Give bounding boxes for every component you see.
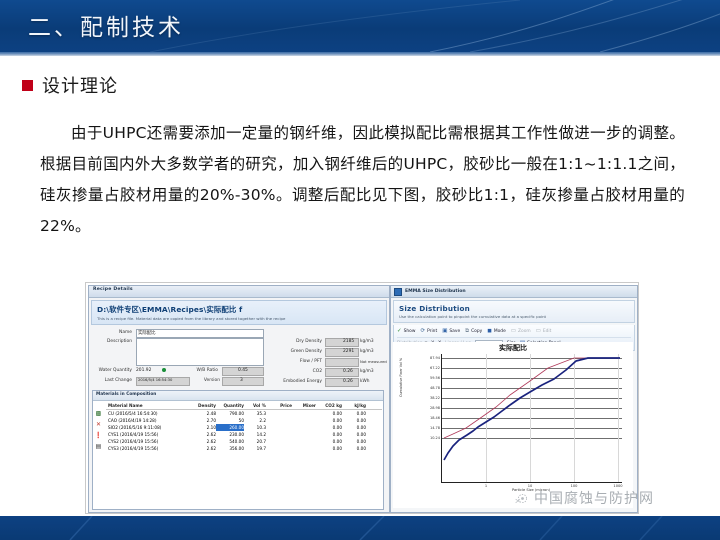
y-tick-label: 10.24 bbox=[430, 436, 440, 440]
wb-ratio-value: 0.45 bbox=[238, 368, 248, 373]
target-curve-line bbox=[444, 358, 620, 438]
cell-density: 2.62 bbox=[194, 438, 216, 445]
version-field bbox=[222, 377, 264, 386]
edit-button[interactable]: ▭Edit bbox=[536, 329, 552, 335]
cell-material-name: CU (2016/5/4 16:54:30) bbox=[106, 410, 194, 417]
dry-density-label: Dry Density bbox=[268, 339, 322, 344]
table-row[interactable]: CAO (2016/4/19 14:28) 2.70 50 2.2 0.00 0… bbox=[106, 417, 382, 424]
col-quantity[interactable]: Quantity bbox=[216, 402, 244, 409]
body-paragraph: 由于UHPC还需要添加一定量的钢纤维，因此模拟配比需根据其工作性做进一步的调整。… bbox=[40, 118, 685, 242]
cell-mixer bbox=[292, 438, 316, 445]
size-distribution-title: Size Distribution bbox=[399, 304, 629, 313]
dry-density-unit: kg/m3 bbox=[360, 339, 374, 344]
embodied-energy-unit: kWh bbox=[360, 379, 369, 384]
recipe-details-window: Recipe Details D:\软件专区\EMMA\Recipes\实际配比… bbox=[88, 285, 390, 513]
materials-panel-title: Materials in Composition bbox=[93, 391, 383, 401]
flow-pft-field bbox=[325, 358, 359, 367]
col-mixer[interactable]: Mixer bbox=[292, 402, 316, 409]
show-button[interactable]: ✓Show bbox=[397, 329, 415, 335]
recipe-form-area: Name 实际配比 Description Water Quantity 201… bbox=[92, 328, 386, 388]
green-density-unit: kg/m3 bbox=[360, 349, 374, 354]
edit-label: Edit bbox=[543, 329, 552, 334]
cell-co2: 0.00 bbox=[316, 431, 342, 438]
cell-quantity: 50 bbox=[216, 417, 244, 424]
cell-vol: 19.7 bbox=[244, 445, 266, 452]
mode-label: Mode bbox=[494, 329, 506, 334]
y-tick-label: 87.94 bbox=[430, 356, 440, 360]
chart-curves bbox=[442, 354, 622, 482]
measured-curve-line bbox=[444, 358, 620, 460]
cell-density: 2.70 bbox=[194, 417, 216, 424]
last-change-label: Last Change bbox=[90, 378, 132, 383]
cell-kjkg: 0.00 bbox=[342, 417, 366, 424]
table-header-row: Material Name Density Quantity Vol % Pri… bbox=[106, 402, 382, 410]
cell-material-name: CYS3 (2016/4/19 15:56) bbox=[106, 445, 194, 452]
save-label: Save bbox=[449, 329, 460, 334]
y-tick-label: 59.56 bbox=[430, 376, 440, 380]
show-label: Show bbox=[404, 329, 416, 334]
cell-kjkg: 0.00 bbox=[342, 424, 366, 431]
cell-co2: 0.00 bbox=[316, 438, 342, 445]
y-tick-label: 38.22 bbox=[430, 396, 440, 400]
table-row[interactable]: CYS2 (2016/4/19 15:56) 2.62 540.00 20.7 … bbox=[106, 438, 382, 445]
section-heading-label: 设计理论 bbox=[42, 72, 118, 98]
cell-price bbox=[266, 424, 292, 431]
save-button[interactable]: ▣Save bbox=[442, 329, 460, 335]
print-button[interactable]: ⟳Print bbox=[420, 329, 437, 335]
recipe-path-banner: D:\软件专区\EMMA\Recipes\实际配比 f This is a re… bbox=[91, 300, 387, 325]
cell-mixer bbox=[292, 417, 316, 424]
table-row[interactable]: SIO2 (2016/5/16 9:11:08) 2.10 260.00 10.… bbox=[106, 424, 382, 431]
green-density-label: Green Density bbox=[268, 349, 322, 354]
water-status-dot-icon bbox=[162, 368, 166, 372]
cell-co2: 0.00 bbox=[316, 445, 342, 452]
wb-ratio-label: W/B Ratio bbox=[174, 368, 218, 373]
cell-density: 2.10 bbox=[194, 424, 216, 431]
last-change-value: 2016/5/4 16:54:30 bbox=[138, 378, 172, 382]
cell-mixer bbox=[292, 410, 316, 417]
cell-price bbox=[266, 431, 292, 438]
print-icon: ⟳ bbox=[420, 329, 425, 335]
cell-co2: 0.00 bbox=[316, 410, 342, 417]
cell-vol: 10.3 bbox=[244, 424, 266, 431]
y-tick-label: 18.46 bbox=[430, 416, 440, 420]
cell-material-name: SIO2 (2016/5/16 9:11:08) bbox=[106, 424, 194, 431]
materials-side-toolbar: ▩ ✕ ❗ ▤ bbox=[94, 409, 105, 453]
cell-material-name: CAO (2016/4/19 14:28) bbox=[106, 417, 194, 424]
print-label: Print bbox=[427, 329, 437, 334]
cell-kjkg: 0.00 bbox=[342, 410, 366, 417]
copy-label: Copy bbox=[471, 329, 482, 334]
watermark-text: 中国腐蚀与防护网 bbox=[534, 488, 654, 508]
cell-kjkg: 0.00 bbox=[342, 438, 366, 445]
cell-price bbox=[266, 410, 292, 417]
y-tick-label: 48.78 bbox=[430, 386, 440, 390]
emma-app-icon bbox=[394, 288, 402, 296]
cell-kjkg: 0.00 bbox=[342, 445, 366, 452]
cell-vol: 35.3 bbox=[244, 410, 266, 417]
co2-unit: kg/m3 bbox=[360, 369, 374, 374]
zoom-icon: ▭ bbox=[511, 329, 516, 335]
emma-window-titlebar[interactable]: EMMA Size Distribution bbox=[391, 286, 637, 298]
version-label: Version bbox=[190, 378, 220, 383]
embedded-screenshot-figure: Recipe Details D:\软件专区\EMMA\Recipes\实际配比… bbox=[85, 282, 639, 514]
chart-plot-area: 87.94 67.22 59.56 48.78 38.22 28.98 18.4… bbox=[441, 354, 622, 483]
cell-mixer bbox=[292, 445, 316, 452]
materials-table: Material Name Density Quantity Vol % Pri… bbox=[106, 402, 382, 452]
header-divider bbox=[0, 52, 720, 56]
cell-quantity: 230.00 bbox=[216, 431, 244, 438]
col-material-name[interactable]: Material Name bbox=[106, 402, 194, 409]
check-icon: ✓ bbox=[397, 329, 402, 335]
recipe-window-titlebar[interactable]: Recipe Details bbox=[89, 286, 389, 298]
zoom-button[interactable]: ▭Zoom bbox=[511, 329, 531, 335]
copy-button[interactable]: ⧉Copy bbox=[465, 329, 482, 335]
cell-material-name: CYS1 (2016/4/19 15:56) bbox=[106, 431, 194, 438]
col-price[interactable]: Price bbox=[266, 402, 292, 409]
table-row[interactable]: CYS1 (2016/4/19 15:56) 2.62 230.00 14.2 … bbox=[106, 431, 382, 438]
water-quantity-label: Water Quantity bbox=[90, 368, 132, 373]
col-vol[interactable]: Vol % bbox=[244, 402, 266, 409]
col-kjkg[interactable]: kJ/kg bbox=[342, 402, 366, 409]
circular-dotted-logo-icon bbox=[515, 491, 530, 506]
cell-quantity-selected[interactable]: 260.00 bbox=[216, 424, 244, 431]
properties-icon[interactable]: ▤ bbox=[94, 442, 103, 451]
co2-field bbox=[325, 368, 359, 377]
y-tick-label: 67.22 bbox=[430, 366, 440, 370]
cell-material-name: CYS2 (2016/4/19 15:56) bbox=[106, 438, 194, 445]
description-field[interactable] bbox=[136, 338, 264, 366]
materials-panel: Materials in Composition ▩ ✕ ❗ ▤ Materia… bbox=[92, 390, 384, 510]
cell-co2: 0.00 bbox=[316, 424, 342, 431]
cell-mixer bbox=[292, 431, 316, 438]
delete-icon[interactable]: ✕ bbox=[94, 420, 103, 429]
size-distribution-chart: 实际配比 Cumulative Finer Vol % bbox=[393, 342, 633, 508]
description-label: Description bbox=[92, 339, 132, 344]
embodied-energy-value: 0.26 bbox=[343, 379, 353, 384]
co2-value: 0.26 bbox=[343, 369, 353, 374]
cell-price bbox=[266, 417, 292, 424]
col-density[interactable]: Density bbox=[194, 402, 216, 409]
cell-density: 2.48 bbox=[194, 410, 216, 417]
cell-vol: 20.7 bbox=[244, 438, 266, 445]
version-value: 3 bbox=[240, 378, 243, 383]
col-co2[interactable]: CO2 kg bbox=[316, 402, 342, 409]
dry-density-value: 2185 bbox=[343, 339, 354, 344]
cell-vol: 14.2 bbox=[244, 431, 266, 438]
table-row[interactable]: CYS3 (2016/4/19 15:56) 2.62 356.00 19.7 … bbox=[106, 445, 382, 452]
slide-footer-bar bbox=[0, 516, 720, 540]
recipe-path-subtitle: This is a recipe file. Material data are… bbox=[97, 316, 381, 321]
name-label: Name bbox=[92, 330, 132, 335]
warning-icon[interactable]: ❗ bbox=[94, 431, 103, 440]
cell-quantity: 540.00 bbox=[216, 438, 244, 445]
cell-quantity: 790.00 bbox=[216, 410, 244, 417]
y-tick-label: 28.98 bbox=[430, 406, 440, 410]
recipe-path-title: D:\软件专区\EMMA\Recipes\实际配比 f bbox=[97, 304, 381, 315]
flow-pft-unit: Not measured bbox=[360, 359, 387, 364]
emma-size-distribution-window: EMMA Size Distribution Size Distribution… bbox=[390, 285, 638, 513]
cell-price bbox=[266, 438, 292, 445]
co2-label: CO2 bbox=[268, 369, 322, 374]
copy-icon: ⧉ bbox=[465, 329, 469, 335]
save-icon: ▣ bbox=[442, 329, 447, 335]
cell-co2: 0.00 bbox=[316, 417, 342, 424]
mode-button[interactable]: ◼Mode bbox=[487, 329, 506, 335]
y-tick-label: 14.78 bbox=[430, 426, 440, 430]
cell-vol: 2.2 bbox=[244, 417, 266, 424]
cell-mixer bbox=[292, 424, 316, 431]
page-title: 二、配制技术 bbox=[28, 8, 184, 42]
water-quantity-value: 201.92 bbox=[136, 368, 151, 373]
chart-title: 实际配比 bbox=[393, 343, 633, 353]
section-heading: 设计理论 bbox=[22, 72, 118, 98]
name-value: 实际配比 bbox=[138, 330, 156, 336]
library-icon[interactable]: ▩ bbox=[94, 409, 103, 418]
slide-header-banner: 二、配制技术 bbox=[0, 0, 720, 52]
flow-pft-label: Flow / PFT bbox=[268, 359, 322, 364]
emma-window-title: EMMA Size Distribution bbox=[405, 289, 466, 294]
footer-decorative-stripes bbox=[0, 516, 720, 540]
square-bullet-icon bbox=[22, 80, 33, 91]
cell-price bbox=[266, 445, 292, 452]
cell-density: 2.62 bbox=[194, 431, 216, 438]
green-density-value: 2291 bbox=[343, 349, 354, 354]
size-distribution-header: Size Distribution Use the calculation po… bbox=[393, 300, 635, 323]
edit-icon: ▭ bbox=[536, 329, 541, 335]
emma-toolbar-row-1: ✓Show ⟳Print ▣Save ⧉Copy ◼Mode ▭Zoom ▭Ed… bbox=[397, 327, 631, 336]
embodied-energy-label: Embodied Energy bbox=[260, 379, 322, 384]
mode-icon: ◼ bbox=[487, 329, 492, 335]
embodied-energy-field bbox=[325, 378, 359, 387]
cell-kjkg: 0.00 bbox=[342, 431, 366, 438]
zoom-label: Zoom bbox=[518, 329, 531, 334]
table-row[interactable]: CU (2016/5/4 16:54:30) 2.48 790.00 35.3 … bbox=[106, 410, 382, 417]
watermark: 中国腐蚀与防护网 bbox=[515, 488, 654, 508]
cell-density: 2.62 bbox=[194, 445, 216, 452]
cell-quantity: 356.00 bbox=[216, 445, 244, 452]
size-distribution-subtitle: Use the calculation point to pinpoint th… bbox=[399, 314, 629, 319]
chart-y-axis-label: Cumulative Finer Vol % bbox=[399, 358, 403, 397]
